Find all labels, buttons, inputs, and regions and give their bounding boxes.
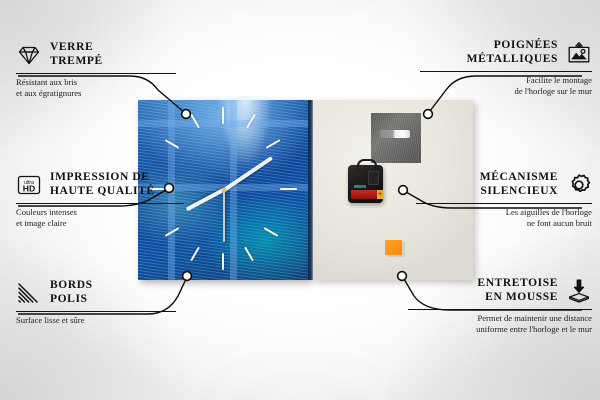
hour-tick bbox=[280, 188, 297, 190]
polished-edge-icon bbox=[16, 280, 42, 306]
movement-hanging-loop bbox=[357, 159, 377, 170]
callout-divider bbox=[420, 71, 592, 72]
callout-divider bbox=[16, 73, 176, 74]
movement-label-strip bbox=[354, 185, 366, 188]
foam-spacer-icon bbox=[566, 278, 592, 304]
callout-subtitle: Surface lisse et sûre bbox=[16, 315, 176, 326]
hanger-keyhole-slot bbox=[380, 130, 410, 138]
callout-verre-trempe: VERRE TREMPÉ Résistant aux bris et aux é… bbox=[16, 40, 176, 100]
callout-divider bbox=[408, 309, 592, 310]
product-feature-infographic: + bbox=[0, 0, 600, 400]
callout-divider bbox=[16, 203, 184, 204]
callout-divider bbox=[416, 203, 592, 204]
callout-title: ENTRETOISE EN MOUSSE bbox=[477, 277, 558, 304]
gear-icon bbox=[566, 172, 592, 198]
callout-header: BORDS POLIS bbox=[16, 278, 176, 308]
callout-bords-polis: BORDS POLIS Surface lisse et sûre bbox=[16, 278, 176, 326]
clock-hands-pivot bbox=[222, 188, 227, 193]
callout-title: VERRE TREMPÉ bbox=[50, 41, 103, 68]
battery-plus-terminal: + bbox=[377, 190, 383, 199]
svg-text:HD: HD bbox=[23, 183, 35, 193]
hour-tick bbox=[190, 247, 200, 262]
hour-tick bbox=[222, 107, 224, 124]
callout-entretoise-en-mousse: ENTRETOISE EN MOUSSE Permet de maintenir… bbox=[408, 276, 592, 336]
callout-subtitle: Facilite le montage de l'horloge sur le … bbox=[420, 75, 592, 98]
callout-subtitle: Résistant aux bris et aux égratignures bbox=[16, 77, 176, 100]
clock-pattern-band bbox=[138, 120, 310, 127]
callout-subtitle: Permet de maintenir une distance uniform… bbox=[408, 313, 592, 336]
callout-title: POIGNÉES MÉTALLIQUES bbox=[467, 39, 558, 66]
callout-divider bbox=[16, 311, 176, 312]
movement-chip bbox=[368, 171, 379, 185]
callout-header: ultra HD IMPRESSION DE HAUTE QUALITÉ bbox=[16, 170, 184, 200]
hour-tick bbox=[222, 253, 224, 270]
callout-title: BORDS POLIS bbox=[50, 279, 93, 306]
callout-header: POIGNÉES MÉTALLIQUES bbox=[420, 38, 592, 68]
ultra-hd-icon: ultra HD bbox=[16, 172, 42, 198]
hour-tick bbox=[244, 247, 254, 262]
aa-battery: + bbox=[351, 190, 379, 199]
hour-tick bbox=[264, 227, 279, 237]
callout-header: VERRE TREMPÉ bbox=[16, 40, 176, 70]
callout-subtitle: Les aiguilles de l'horloge ne font aucun… bbox=[416, 207, 592, 230]
callout-subtitle: Couleurs intenses et image claire bbox=[16, 207, 184, 230]
callout-title: MÉCANISME SILENCIEUX bbox=[480, 171, 558, 198]
callout-header: ENTRETOISE EN MOUSSE bbox=[408, 276, 592, 306]
callout-header: MÉCANISME SILENCIEUX bbox=[416, 170, 592, 200]
clock-second-hand bbox=[223, 190, 225, 242]
foam-spacer-pad bbox=[385, 240, 402, 255]
callout-poignees-metalliques: POIGNÉES MÉTALLIQUES Facilite le montage… bbox=[420, 38, 592, 98]
clock-hour-hand bbox=[186, 188, 225, 211]
clock-face-highlight bbox=[217, 96, 273, 166]
clock-movement-mechanism: + bbox=[348, 165, 383, 203]
callout-title: IMPRESSION DE HAUTE QUALITÉ bbox=[50, 171, 155, 198]
callout-impression-haute-qualite: ultra HD IMPRESSION DE HAUTE QUALITÉ Cou… bbox=[16, 170, 184, 230]
metal-hanger-plate bbox=[371, 113, 421, 163]
diamond-icon bbox=[16, 42, 42, 68]
callout-mecanisme-silencieux: MÉCANISME SILENCIEUX Les aiguilles de l'… bbox=[416, 170, 592, 230]
picture-hanger-icon bbox=[566, 40, 592, 66]
